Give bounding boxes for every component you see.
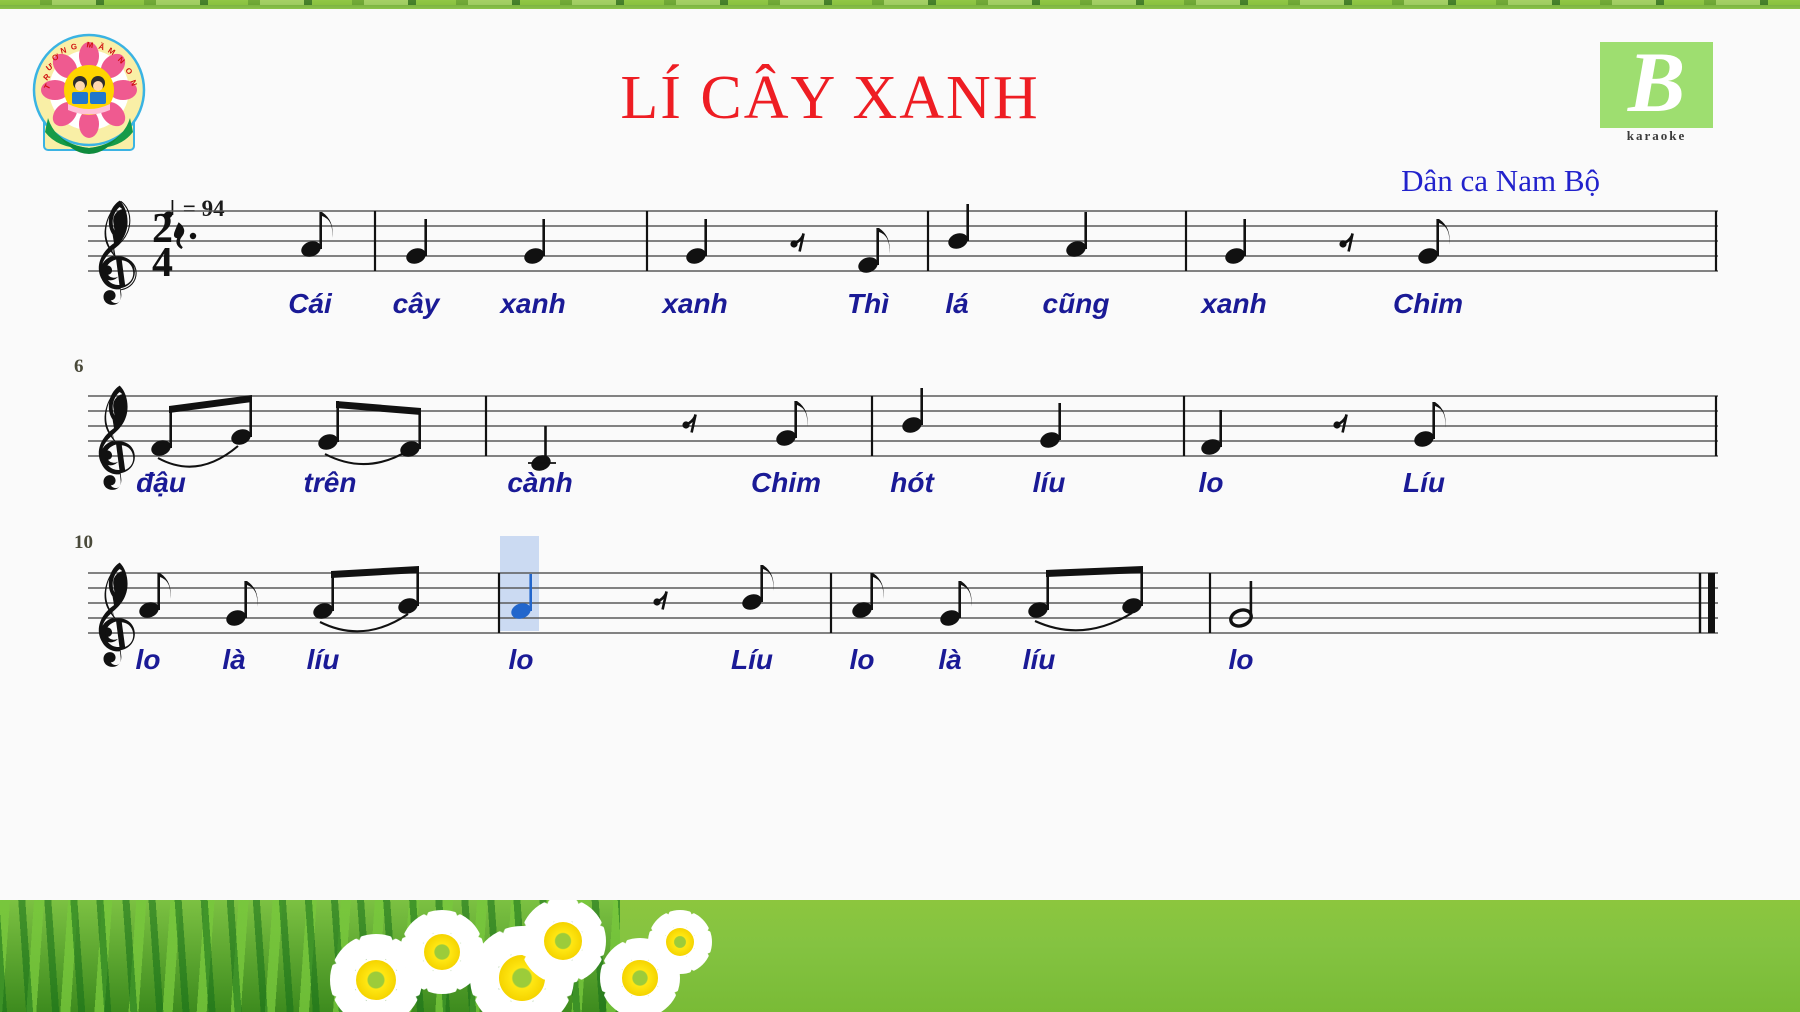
lyric-syllable: Chim [751,467,821,499]
lyric-syllable: cũng [1043,288,1110,320]
final-barline-thick [1708,573,1715,633]
lyric-syllable: xanh [1201,288,1266,320]
lyric-syllable: là [222,644,245,676]
eighth-rest [682,415,695,433]
lyric-syllable: xanh [500,288,565,320]
daisy-flower [648,910,712,974]
lyric-syllable: Chim [1393,288,1463,320]
lyric-syllable: cành [507,467,572,499]
lyric-syllable: lo [1229,644,1254,676]
eighth-rest [653,592,666,610]
beamed-eighth-pair [1026,566,1144,630]
active-note-quarter [509,574,533,621]
lyric-syllable: là [938,644,961,676]
eighth-rest [790,234,803,252]
lyric-syllable: lo [850,644,875,676]
lyric-syllable: Líu [1403,467,1445,499]
treble-clef [99,201,136,305]
lyric-syllable: Líu [731,644,773,676]
lyric-syllable: cây [393,288,440,320]
lyric-syllable-active: lo [509,644,534,676]
note-eighth [850,573,883,620]
slur [1035,613,1132,630]
dotted-quarter-rest [175,224,196,248]
note-eighth [299,212,332,259]
daisy-flower [520,900,606,984]
treble-clef [99,563,135,667]
lyric-syllable: trên [304,467,357,499]
lyric-syllable: Thì [847,288,889,320]
note-eighth [137,573,170,620]
note-quarter [1064,212,1088,259]
lyric-syllable: xanh [662,288,727,320]
note-eighth [856,228,889,275]
lyric-syllable: líu [1033,467,1066,499]
slur [320,614,408,631]
lyric-syllable: lo [136,644,161,676]
eighth-rest [1339,234,1352,252]
karaoke-sheet-music-screen: T R Ư Ơ N G M Ầ M N O N LÍ CÂY XANH B ka… [0,0,1800,1012]
treble-clef [99,386,135,490]
note-quarter [1199,410,1223,457]
lyric-syllable: hót [890,467,934,499]
lyric-syllable: đậu [136,467,186,499]
eighth-rest [1333,415,1346,433]
slur [325,450,409,464]
time-signature-denominator: 4 [152,240,173,286]
lyric-syllable: lo [1199,467,1224,499]
bottom-decorative-band [0,900,1800,1012]
lyric-syllable: líu [1023,644,1056,676]
lyric-syllable: líu [307,644,340,676]
lyric-syllable: Cái [288,288,332,320]
lyric-syllable: lá [945,288,968,320]
beamed-eighth-pair [311,566,420,631]
